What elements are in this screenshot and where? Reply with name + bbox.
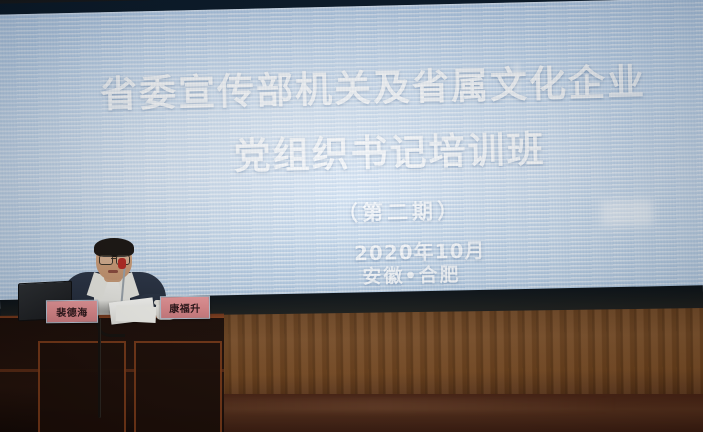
nameplate-right: 康福升 [160, 296, 210, 319]
screen-glare-spot [601, 199, 654, 226]
conference-hall-photo: 省委宣传部机关及省属文化企业 党组织书记培训班 （第二期） 2020年10月 安… [0, 0, 703, 432]
nameplate-left: 裴德海 [46, 300, 98, 323]
slide-subtitle: （第二期） [337, 195, 463, 228]
desk-front-panel-left [38, 341, 126, 432]
slide-title-line-1: 省委宣传部机关及省属文化企业 [99, 51, 646, 118]
mouth [108, 270, 118, 273]
slide-location: 安徽•合肥 [362, 260, 461, 289]
desk-front-panel-right [134, 341, 222, 432]
eyeglasses-bridge [111, 258, 116, 259]
power-cable [98, 318, 101, 418]
hair [94, 238, 134, 257]
eyeglasses-left-lens [99, 255, 113, 265]
microphone-icon [118, 258, 126, 269]
slide-title-line-2: 党组织书记培训班 [233, 119, 546, 180]
